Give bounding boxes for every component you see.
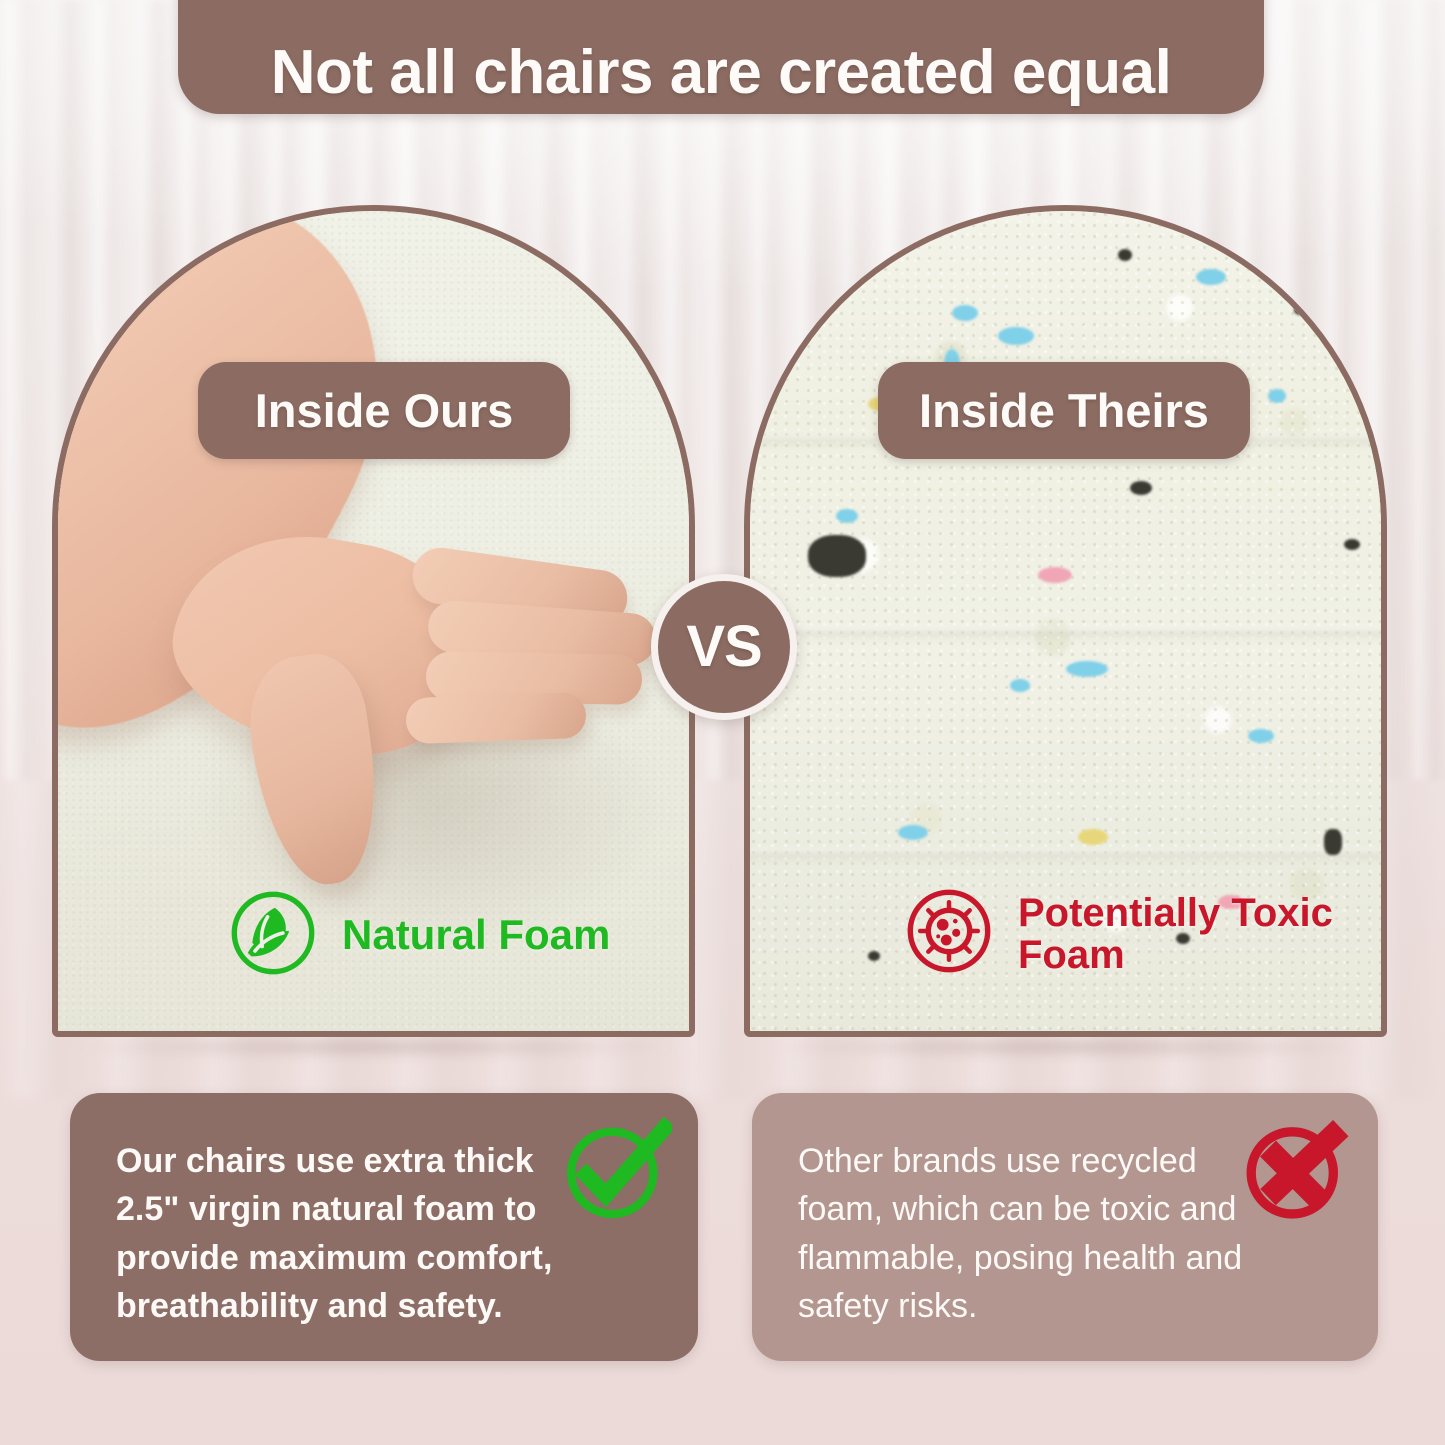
caption-ours-text: Our chairs use extra thick 2.5" virgin n… xyxy=(116,1137,586,1330)
page-title: Not all chairs are created equal xyxy=(271,42,1172,104)
finger-shape xyxy=(405,692,586,744)
caption-theirs-text: Other brands use recycled foam, which ca… xyxy=(798,1137,1268,1330)
arch-shadow-right xyxy=(762,1036,1372,1058)
germ-icon xyxy=(904,886,994,981)
vs-label: VS xyxy=(686,618,761,676)
leaf-icon xyxy=(228,888,318,983)
label-inside-ours: Inside Ours xyxy=(255,387,514,434)
vs-badge: VS xyxy=(651,574,797,720)
badge-toxic-foam-label: Potentially Toxic Foam xyxy=(1018,892,1445,976)
check-circle-icon xyxy=(560,1115,672,1227)
label-pill-inside-theirs: Inside Theirs xyxy=(878,362,1250,459)
x-circle-icon xyxy=(1240,1115,1352,1227)
arch-shadow-left xyxy=(70,1036,680,1058)
badge-toxic-foam: Potentially Toxic Foam xyxy=(904,886,1445,981)
caption-box-theirs: Other brands use recycled foam, which ca… xyxy=(752,1093,1378,1361)
label-pill-inside-ours: Inside Ours xyxy=(198,362,570,459)
caption-box-ours: Our chairs use extra thick 2.5" virgin n… xyxy=(70,1093,698,1361)
badge-natural-foam: Natural Foam xyxy=(228,888,610,983)
title-banner: Not all chairs are created equal xyxy=(178,0,1264,114)
promo-graphic: Not all chairs are created equal xyxy=(0,0,1445,1445)
label-inside-theirs: Inside Theirs xyxy=(919,387,1209,434)
badge-natural-foam-label: Natural Foam xyxy=(342,913,610,957)
